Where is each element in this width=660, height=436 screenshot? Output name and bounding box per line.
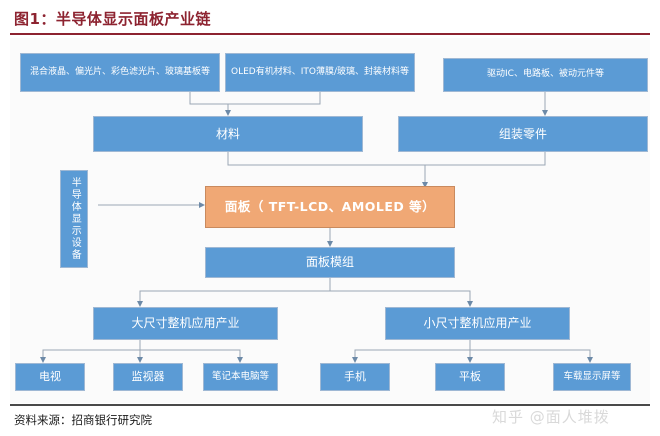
node-label: 大尺寸整机应用产业 [131,316,239,331]
node-module[interactable]: 面板模组 [205,247,455,278]
node-app-large[interactable]: 大尺寸整机应用产业 [93,307,278,340]
node-label: 监视器 [132,370,165,384]
source-note: 资料来源：招商银行研究院 [14,412,152,428]
node-label: 材料 [216,127,240,142]
node-label: 小尺寸整机应用产业 [423,316,531,331]
node-equipment[interactable]: 半导体显示设备 [60,170,88,268]
watermark: 知乎 @面人堆拨 [492,406,610,427]
node-product-monitor[interactable]: 监视器 [113,363,183,391]
node-label: 平板 [459,370,481,384]
node-label: 电视 [39,370,61,384]
title-divider [10,33,650,35]
node-label: 混合液晶、偏光片、彩色滤光片、玻璃基板等 [30,67,210,78]
node-label: 笔记本电脑等 [212,371,269,383]
node-mat-lcd[interactable]: 混合液晶、偏光片、彩色滤光片、玻璃基板等 [20,53,220,92]
node-panel[interactable]: 面板（ TFT-LCD、AMOLED 等） [205,186,455,228]
node-product-tablet[interactable]: 平板 [435,363,505,391]
node-mat-parts[interactable]: 驱动IC、电路板、被动元件等 [443,58,648,92]
node-materials[interactable]: 材料 [93,116,363,152]
node-product-phone[interactable]: 手机 [320,363,390,391]
node-label: 半导体显示设备 [68,177,81,261]
node-label: 面板（ TFT-LCD、AMOLED 等） [225,199,435,215]
figure-title: 图1：半导体显示面板产业链 [14,8,211,29]
node-label: OLED有机材料、ITO薄膜/玻璃、封装材料等 [231,67,409,78]
node-product-notebook[interactable]: 笔记本电脑等 [203,363,278,391]
node-label: 面板模组 [306,255,354,270]
node-label: 组装零件 [499,127,547,142]
node-components[interactable]: 组装零件 [398,116,648,152]
node-product-auto[interactable]: 车载显示屏等 [553,363,631,391]
figure-canvas: 图1：半导体显示面板产业链 [0,0,660,436]
node-mat-oled[interactable]: OLED有机材料、ITO薄膜/玻璃、封装材料等 [225,53,415,92]
node-label: 驱动IC、电路板、被动元件等 [487,69,604,80]
node-app-small[interactable]: 小尺寸整机应用产业 [385,307,570,340]
node-label: 车载显示屏等 [563,371,620,383]
node-product-tv[interactable]: 电视 [15,363,85,391]
node-label: 手机 [344,370,366,384]
